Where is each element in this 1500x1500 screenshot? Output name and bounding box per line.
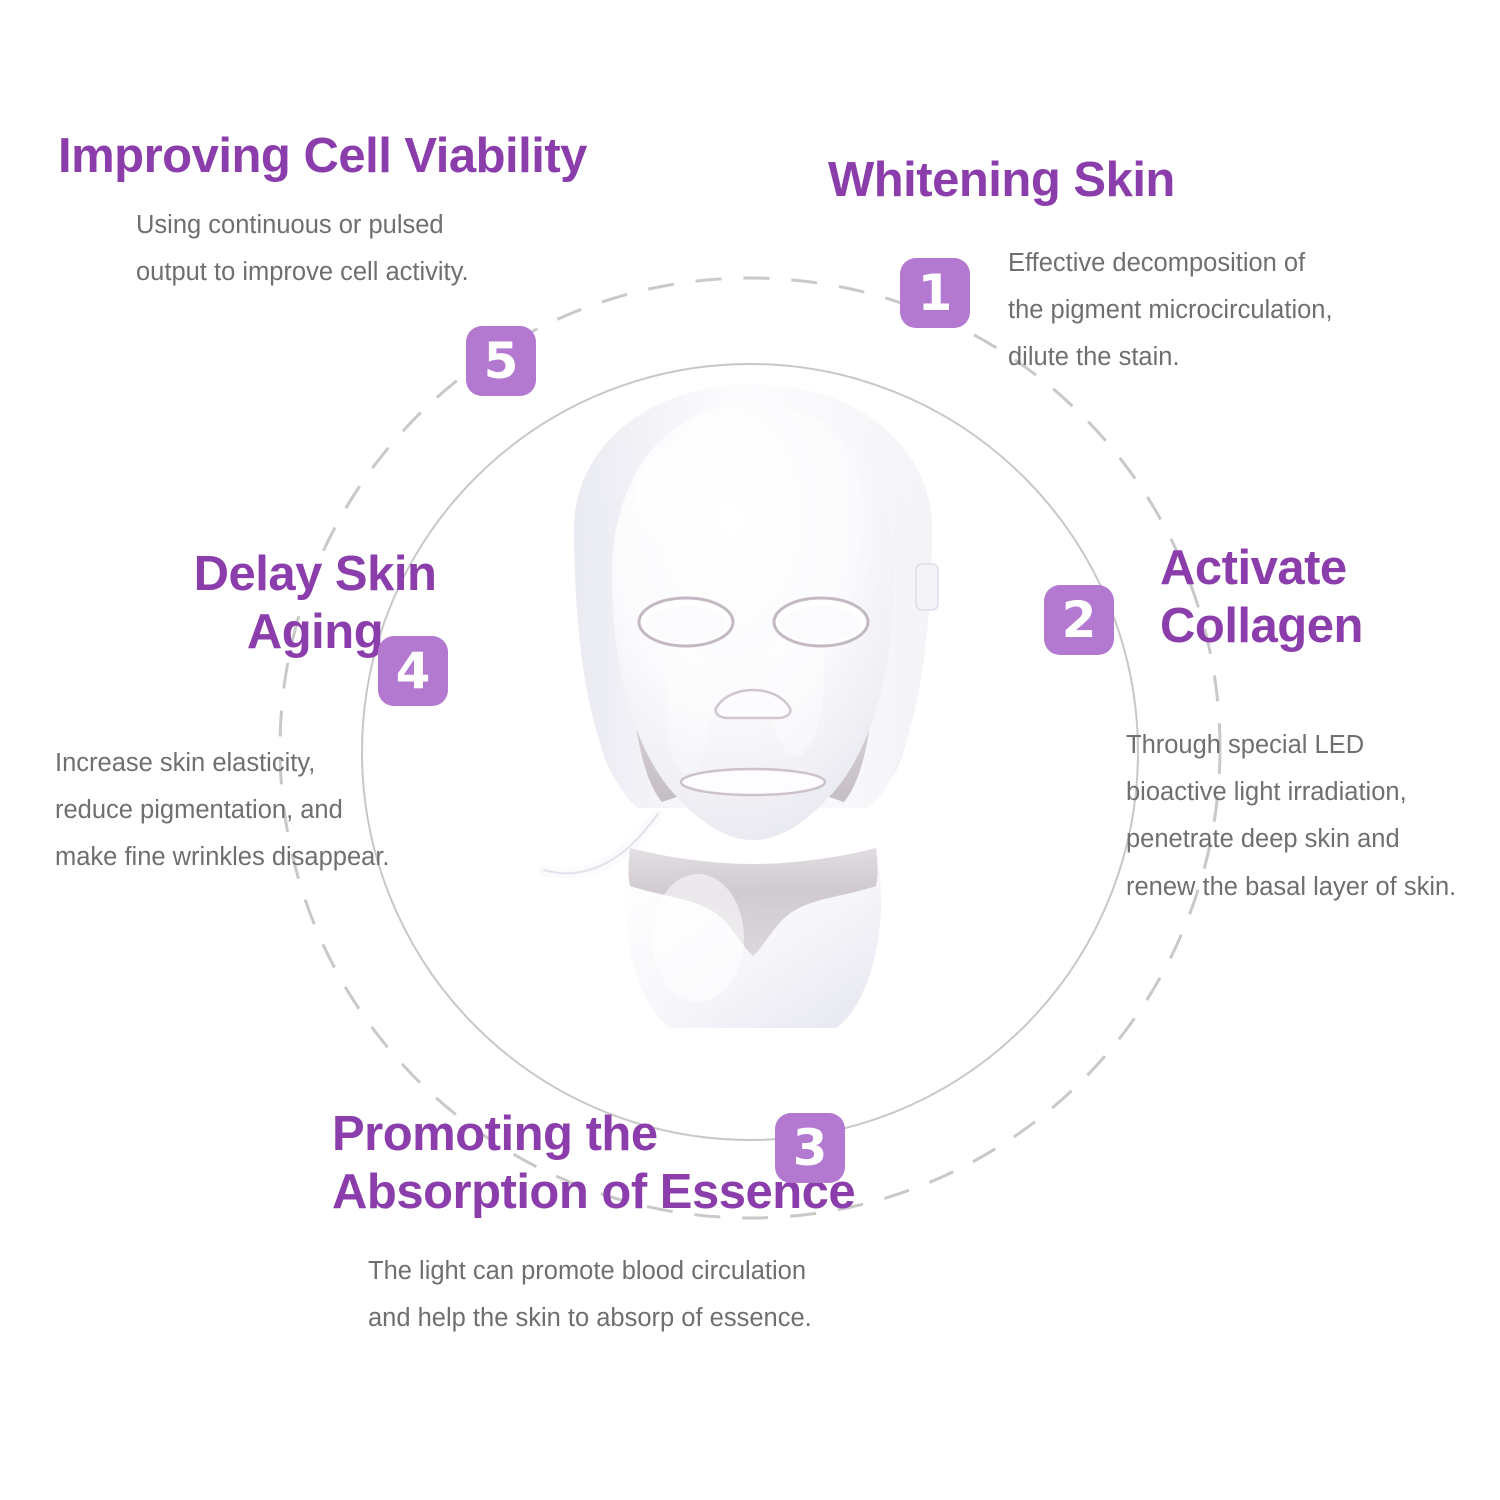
- benefit-4-badge[interactable]: 4: [378, 636, 448, 706]
- benefit-1-title: Whitening Skin: [828, 152, 1175, 210]
- mask-mouth-opening: [681, 769, 825, 795]
- benefit-3-badge[interactable]: 3: [775, 1113, 845, 1183]
- product-image: [538, 378, 968, 1028]
- led-mask-illustration: [538, 378, 968, 1028]
- benefit-5-badge[interactable]: 5: [466, 326, 536, 396]
- benefit-2-badge[interactable]: 2: [1044, 585, 1114, 655]
- benefit-5-title: Improving Cell Viability: [58, 128, 587, 186]
- mask-side-connector: [916, 564, 938, 610]
- benefit-1-body: Effective decomposition of the pigment m…: [1008, 240, 1333, 382]
- benefit-4-body: Increase skin elasticity, reduce pigment…: [55, 740, 390, 882]
- benefit-3-body: The light can promote blood circulation …: [368, 1248, 812, 1342]
- benefit-5-body: Using continuous or pulsed output to imp…: [136, 202, 469, 296]
- benefit-2-title: Activate Collagen: [1160, 540, 1363, 656]
- benefit-1-badge[interactable]: 1: [900, 258, 970, 328]
- infographic-page: Improving Cell Viability Using continuou…: [0, 0, 1500, 1500]
- benefit-2-body: Through special LED bioactive light irra…: [1126, 722, 1456, 911]
